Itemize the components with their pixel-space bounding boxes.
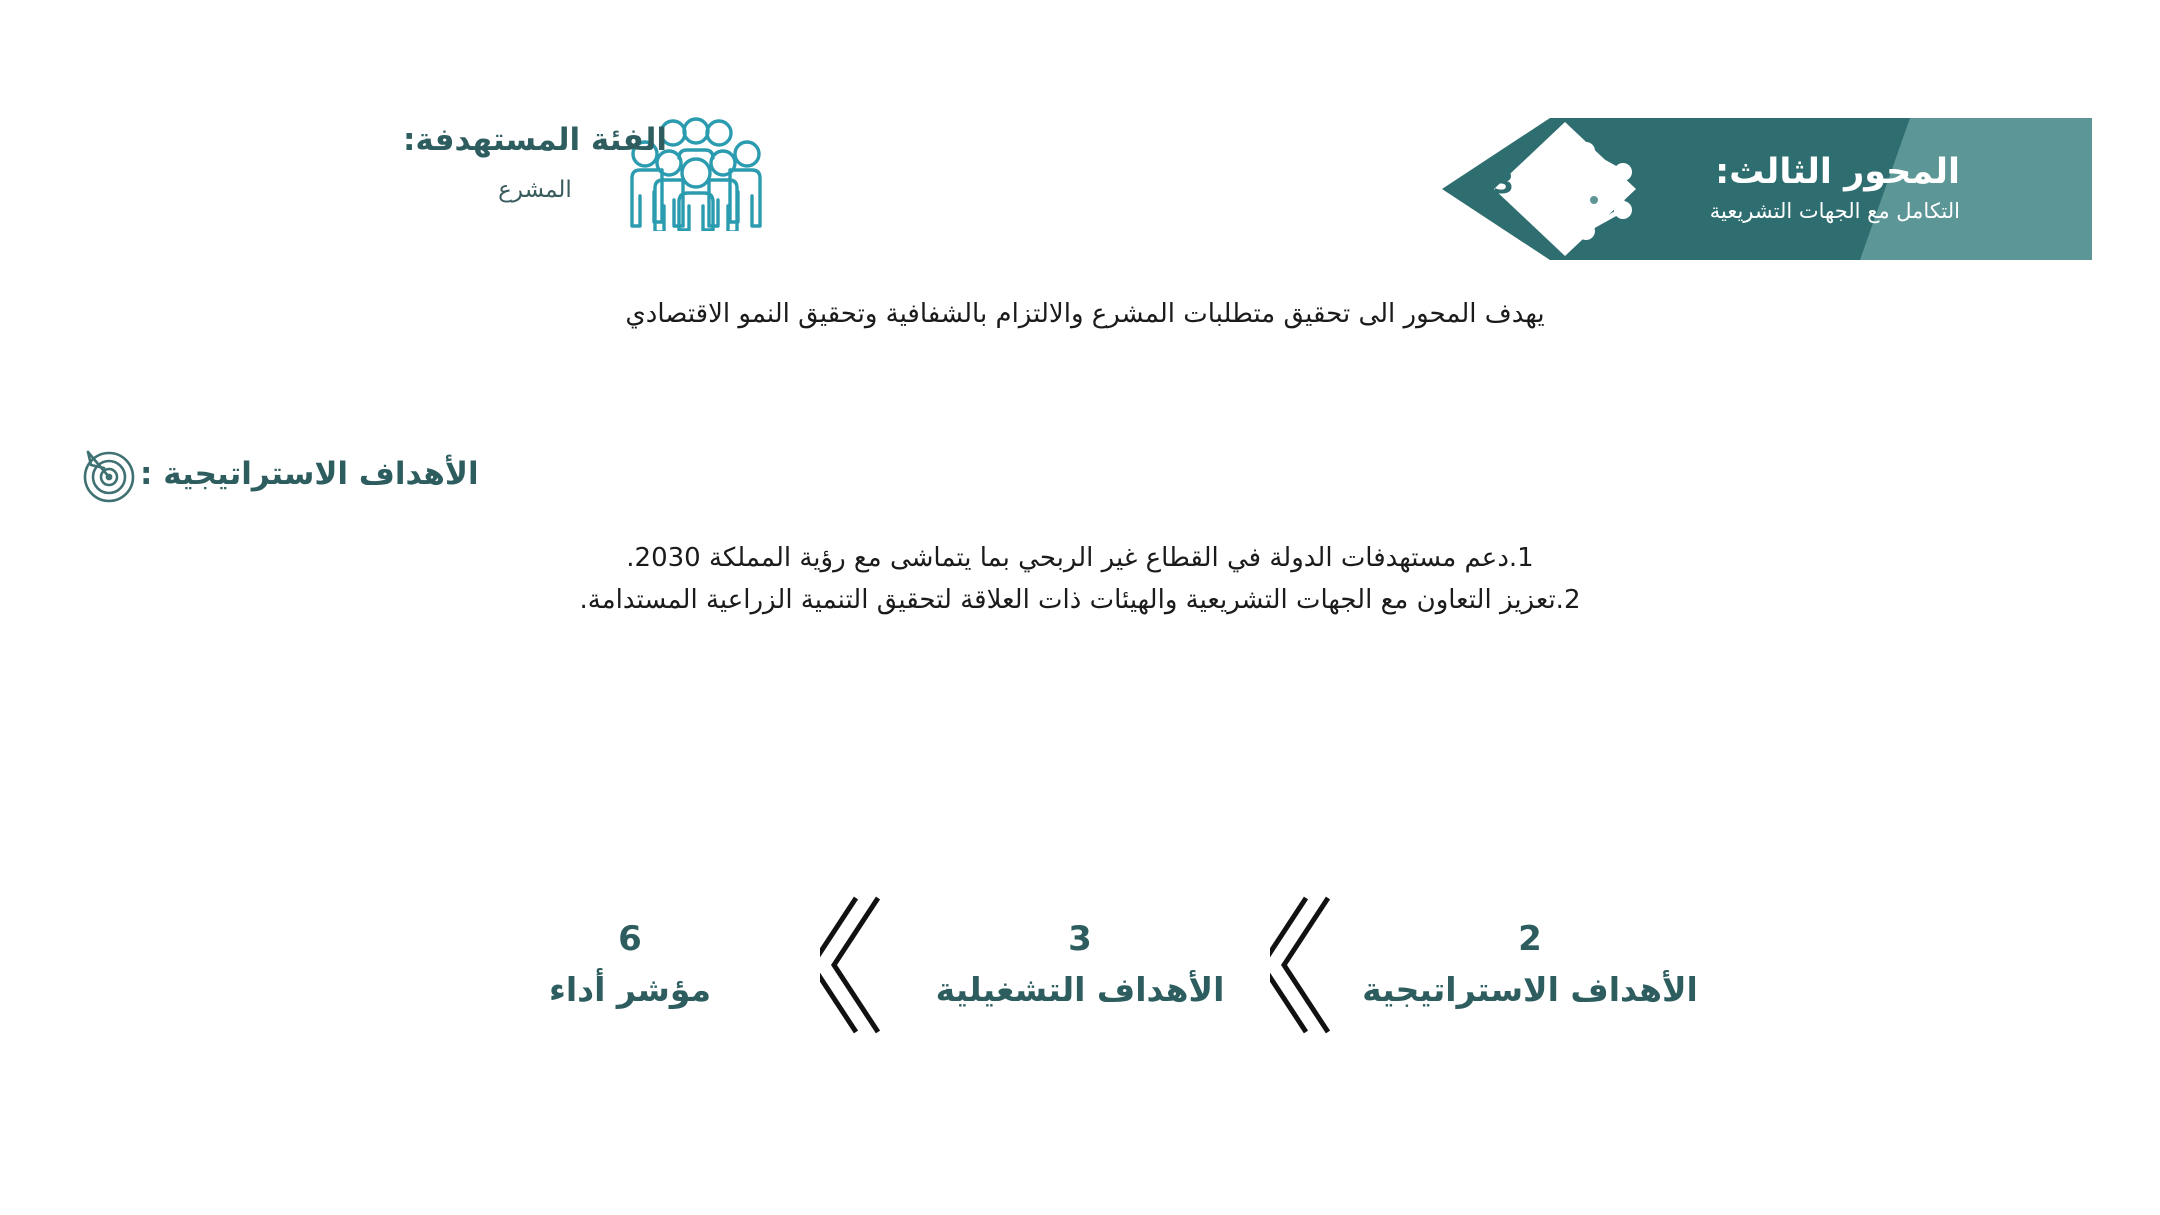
target-audience-text: الفئة المستهدفة: المشرع bbox=[370, 122, 700, 205]
header-inner: الأهداف الاستراتيجية : bbox=[70, 443, 479, 505]
axis-title: المحور الثالث: bbox=[1600, 152, 1960, 192]
flow-label: الأهداف التشغيلية bbox=[936, 972, 1225, 1008]
flow-step-strategic-objectives: 2 الأهداف الاستراتيجية bbox=[1330, 922, 1730, 1008]
axis-description: يهدف المحور الى تحقيق متطلبات المشرع وال… bbox=[230, 295, 1940, 334]
flow-step-operational-objectives: 3 الأهداف التشغيلية bbox=[880, 922, 1280, 1008]
chevron-left-icon bbox=[820, 890, 890, 1040]
target-audience-label: الفئة المستهدفة: bbox=[370, 122, 700, 159]
flow-count: 6 bbox=[618, 922, 642, 956]
axis-subtitle: التكامل مع الجهات التشريعية bbox=[1600, 198, 1960, 225]
list-item: 1.دعم مستهدفات الدولة في القطاع غير الرب… bbox=[70, 537, 2090, 579]
axis-banner: المحور الثالث: التكامل مع الجهات التشريع… bbox=[1442, 118, 2092, 260]
chevron-left-icon bbox=[1270, 890, 1340, 1040]
axis-banner-text: المحور الثالث: التكامل مع الجهات التشريع… bbox=[1600, 118, 1960, 260]
strategic-objectives-list: 1.دعم مستهدفات الدولة في القطاع غير الرب… bbox=[70, 537, 2090, 621]
flow-count: 3 bbox=[1068, 922, 1092, 956]
flow-count: 2 bbox=[1518, 922, 1542, 956]
list-item: 2.تعزيز التعاون مع الجهات التشريعية واله… bbox=[70, 579, 2090, 621]
flow-label: الأهداف الاستراتيجية bbox=[1362, 972, 1698, 1008]
objectives-flow: 2 الأهداف الاستراتيجية 3 الأهداف التشغيل… bbox=[430, 880, 1730, 1050]
strategic-objectives-header: الأهداف الاستراتيجية : bbox=[70, 443, 2090, 505]
target-audience-block: الفئة المستهدفة: المشرع bbox=[275, 110, 795, 240]
strategic-objectives-title: الأهداف الاستراتيجية : bbox=[140, 459, 479, 490]
flow-label: مؤشر أداء bbox=[549, 972, 711, 1008]
axis-number-badge: 03 bbox=[1448, 166, 1538, 201]
flow-step-performance-indicator: 6 مؤشر أداء bbox=[430, 922, 830, 1008]
target-arrow-icon bbox=[76, 443, 138, 505]
target-audience-value: المشرع bbox=[370, 177, 700, 205]
